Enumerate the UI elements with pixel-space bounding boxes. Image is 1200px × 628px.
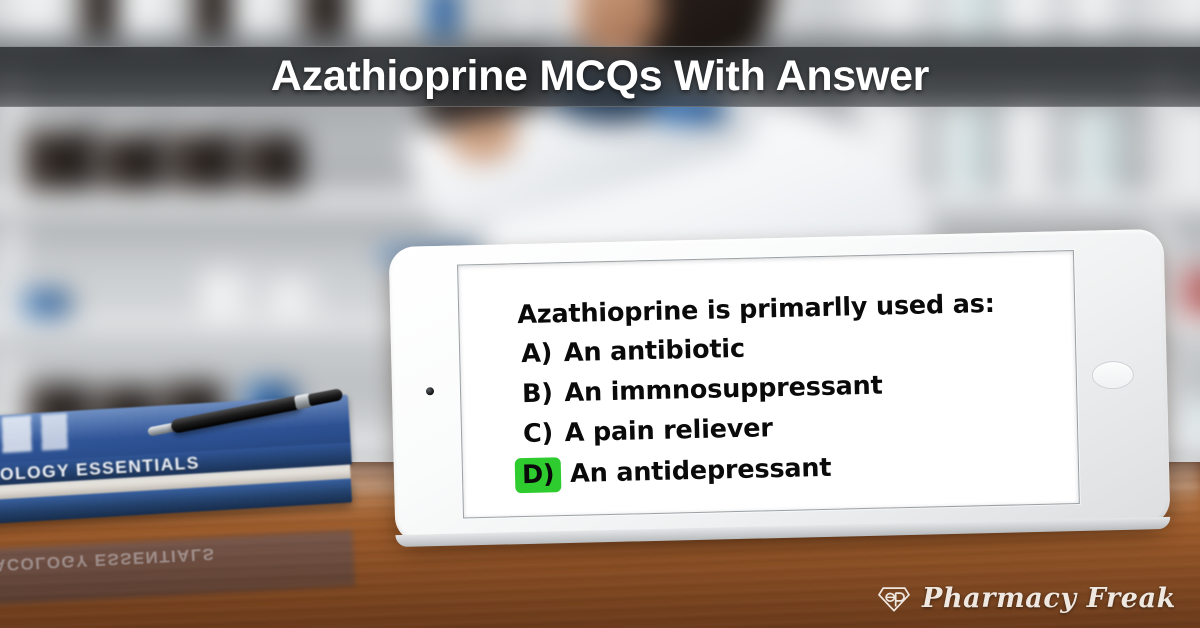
shelf-bottle: [948, 0, 995, 39]
option-d-text: An antidepressant: [570, 453, 832, 489]
shelf-bottle: [882, 0, 933, 39]
title-banner: Azathioprine MCQs With Answer: [0, 46, 1200, 107]
shelf-bottle: [274, 276, 325, 316]
brand-watermark: Pharmacy Freak: [877, 583, 1176, 614]
shelf-bottle: [193, 0, 231, 39]
option-c-label: C): [520, 417, 557, 451]
shelf-bottle: [1179, 103, 1200, 192]
shelf-bottle: [1077, 0, 1126, 39]
pharmacy-freak-shield-icon: [877, 584, 911, 614]
shelf-bottle: [242, 134, 303, 193]
poster-canvas: ARMACOLOGY ESSENTIALS ARMACOLOGY ESSENTI…: [0, 0, 1200, 628]
shelf-bottle: [1179, 0, 1200, 39]
option-b[interactable]: B) An immnosuppressant: [519, 366, 1053, 412]
option-a-label: A): [518, 337, 556, 371]
tablet-device: Azathioprine is primarlly used as: A) An…: [389, 229, 1171, 543]
shelf-bottle: [1009, 0, 1062, 39]
shelf-bottle: [100, 130, 164, 194]
page-title: Azathioprine MCQs With Answer: [271, 52, 929, 101]
shelf-box: [23, 291, 70, 319]
shelf-bottle: [125, 0, 184, 39]
shelf-bottle: [23, 0, 76, 39]
question-text: Azathioprine is primarlly used as:: [517, 288, 1051, 331]
option-b-text: An immnosuppressant: [564, 371, 883, 408]
mcq-content: Azathioprine is primarlly used as: A) An…: [517, 288, 1055, 501]
shelf-bottle: [1183, 397, 1200, 439]
camera-icon: [426, 387, 434, 395]
brand-name: Pharmacy Freak: [922, 583, 1176, 614]
shelf-bottle: [170, 128, 236, 194]
shelf-bottle: [240, 0, 291, 39]
tablet-bezel: Azathioprine is primarlly used as: A) An…: [389, 229, 1171, 543]
option-a-text: An antibiotic: [563, 334, 745, 368]
bottle-cap: [104, 122, 157, 135]
shelf-bottle: [941, 107, 990, 192]
shelf-bottle: [301, 0, 348, 39]
shelf-bottle: [1073, 109, 1122, 192]
bottle-cap: [176, 119, 229, 132]
shelf-bottle: [81, 0, 117, 39]
book-cover-artwork: [0, 411, 98, 457]
shelf-bottle: [1179, 268, 1200, 319]
option-a[interactable]: A) An antibiotic: [518, 326, 1052, 372]
option-d-correct-answer[interactable]: D) An antidepressant: [515, 446, 1055, 494]
bottle-cap: [28, 115, 87, 130]
shelf-bottle: [204, 270, 263, 317]
option-b-label: B): [519, 377, 556, 411]
tablet-screen[interactable]: Azathioprine is primarlly used as: A) An…: [457, 250, 1080, 518]
shelf-bottle: [428, 0, 458, 39]
shelf-bottle: [23, 124, 93, 194]
option-c-text: A pain reliever: [564, 413, 773, 448]
home-button[interactable]: [1092, 361, 1135, 390]
shelf-bottle: [1005, 100, 1058, 191]
shelf-bottle: [358, 0, 413, 39]
option-c[interactable]: C) A pain reliever: [520, 406, 1054, 452]
option-d-label-highlighted: D): [515, 457, 562, 493]
